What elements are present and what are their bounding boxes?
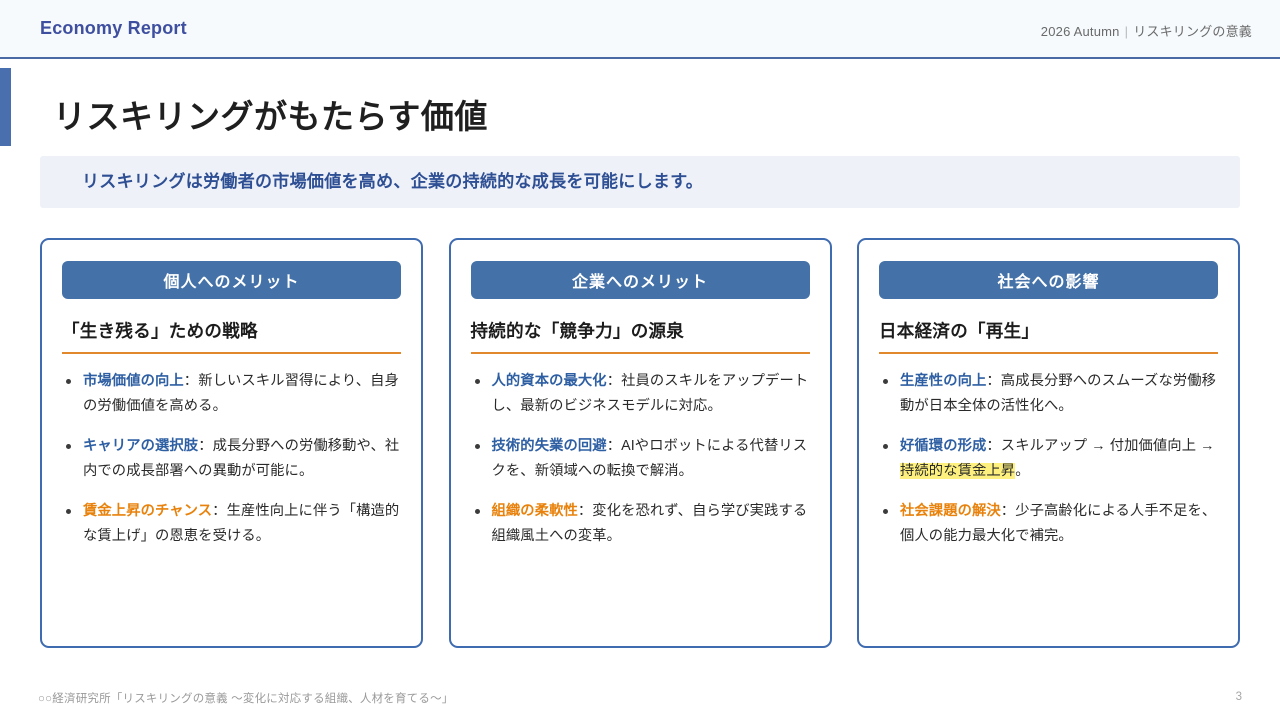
card-divider xyxy=(879,352,1218,354)
card-divider xyxy=(62,352,401,354)
bullet-term: 好循環の形成 xyxy=(900,438,986,454)
bullet-body-tail: 。 xyxy=(1015,463,1029,479)
list-item: 組織の柔軟性：変化を恐れず、自ら学び実践する組織風土への変革。 xyxy=(471,499,810,550)
bullet-separator: ： xyxy=(986,373,1000,389)
list-item: 生産性の向上：高成長分野へのスムーズな労働移動が日本全体の活性化へ。 xyxy=(879,369,1218,420)
slide-footer: ○○経済研究所「リスキリングの意義 〜変化に対応する組織、人材を育てる〜」 3 xyxy=(0,680,1280,719)
card-header-label: 個人へのメリット xyxy=(62,261,401,299)
list-item: 賃金上昇のチャンス：生産性向上に伴う「構造的な賃上げ」の恩恵を受ける。 xyxy=(62,499,401,550)
bullet-list: 生産性の向上：高成長分野へのスムーズな労働移動が日本全体の活性化へ。 好循環の形… xyxy=(879,369,1218,550)
bullet-body: スキルアップ → 付加価値向上 → xyxy=(1001,438,1215,454)
bullet-separator: ： xyxy=(198,438,212,454)
bullet-term: 生産性の向上 xyxy=(900,373,986,389)
bullet-term: 市場価値の向上 xyxy=(83,373,184,389)
list-item: 人的資本の最大化：社員のスキルをアップデートし、最新のビジネスモデルに対応。 xyxy=(471,369,810,420)
footer-source-text: ○○経済研究所「リスキリングの意義 〜変化に対応する組織、人材を育てる〜」 xyxy=(38,690,453,706)
card-divider xyxy=(471,352,810,354)
header-meta-separator: | xyxy=(1125,24,1129,39)
bullet-term: 賃金上昇のチャンス xyxy=(83,503,212,519)
bullet-separator: ： xyxy=(578,503,592,519)
bullet-term: キャリアの選択肢 xyxy=(83,438,198,454)
bullet-separator: ： xyxy=(1001,503,1015,519)
bullet-separator: ： xyxy=(607,438,621,454)
card-society: 社会への影響 日本経済の「再生」 生産性の向上：高成長分野へのスムーズな労働移動… xyxy=(857,238,1240,648)
page-number: 3 xyxy=(1236,691,1242,703)
bullet-highlight: 持続的な賃金上昇 xyxy=(900,463,1015,479)
header-meta: 2026 Autumn|リスキリングの意義 xyxy=(1041,21,1252,40)
bullet-list: 人的資本の最大化：社員のスキルをアップデートし、最新のビジネスモデルに対応。 技… xyxy=(471,369,810,550)
card-subheading: 持続的な「競争力」の源泉 xyxy=(471,318,810,343)
bullet-term: 人的資本の最大化 xyxy=(492,373,607,389)
list-item: 市場価値の向上：新しいスキル習得により、自身の労働価値を高める。 xyxy=(62,369,401,420)
bullet-list: 市場価値の向上：新しいスキル習得により、自身の労働価値を高める。 キャリアの選択… xyxy=(62,369,401,550)
header-meta-season: 2026 Autumn xyxy=(1041,24,1120,39)
list-item: 好循環の形成：スキルアップ → 付加価値向上 → 持続的な賃金上昇。 xyxy=(879,434,1218,485)
card-individual: 個人へのメリット 「生き残る」ための戦略 市場価値の向上：新しいスキル習得により… xyxy=(40,238,423,648)
bullet-term: 技術的失業の回避 xyxy=(492,438,607,454)
list-item: 技術的失業の回避：AIやロボットによる代替リスクを、新領域への転換で解消。 xyxy=(471,434,810,485)
card-subheading: 「生き残る」ための戦略 xyxy=(62,318,401,343)
bullet-separator: ： xyxy=(986,438,1000,454)
slide-header: Economy Report 2026 Autumn|リスキリングの意義 xyxy=(0,0,1280,59)
bullet-separator: ： xyxy=(607,373,621,389)
card-header-label: 社会への影響 xyxy=(879,261,1218,299)
header-meta-topic: リスキリングの意義 xyxy=(1133,24,1252,39)
lead-banner: リスキリングは労働者の市場価値を高め、企業の持続的な成長を可能にします。 xyxy=(40,156,1240,208)
bullet-term: 社会課題の解決 xyxy=(900,503,1001,519)
card-header-label: 企業へのメリット xyxy=(471,261,810,299)
cards-row: 個人へのメリット 「生き残る」ための戦略 市場価値の向上：新しいスキル習得により… xyxy=(40,238,1240,648)
bullet-term: 組織の柔軟性 xyxy=(492,503,578,519)
list-item: キャリアの選択肢：成長分野への労働移動や、社内での成長部署への異動が可能に。 xyxy=(62,434,401,485)
title-accent-bar xyxy=(0,68,11,146)
bullet-separator: ： xyxy=(184,373,198,389)
card-corporate: 企業へのメリット 持続的な「競争力」の源泉 人的資本の最大化：社員のスキルをアッ… xyxy=(449,238,832,648)
bullet-separator: ： xyxy=(212,503,226,519)
page-title: リスキリングがもたらす価値 xyxy=(53,90,488,138)
lead-banner-text: リスキリングは労働者の市場価値を高め、企業の持続的な成長を可能にします。 xyxy=(82,156,703,208)
brand-title: Economy Report xyxy=(40,18,187,39)
card-subheading: 日本経済の「再生」 xyxy=(879,318,1218,343)
list-item: 社会課題の解決：少子高齢化による人手不足を、個人の能力最大化で補完。 xyxy=(879,499,1218,550)
